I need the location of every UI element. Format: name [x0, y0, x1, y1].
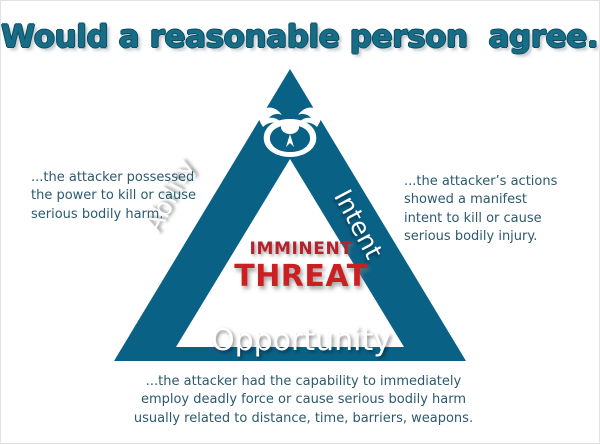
- description-ability-line: serious bodily harm.: [31, 206, 221, 224]
- description-ability: ...the attacker possessed the power to k…: [31, 169, 221, 224]
- description-intent: ...the attacker’s actions showed a manif…: [404, 173, 589, 247]
- center-threat-text: IMMINENT THREAT: [1, 241, 600, 292]
- description-intent-line: intent to kill or cause: [404, 210, 589, 228]
- description-intent-line: serious bodily injury.: [404, 228, 589, 246]
- imminent-threat-triangle-diagram: Would a reasonable person agree...? Abil…: [0, 0, 600, 444]
- description-opportunity-line: ...the attacker had the capability to im…: [106, 373, 501, 391]
- description-opportunity: ...the attacker had the capability to im…: [106, 373, 501, 428]
- threat-label: THREAT: [1, 262, 600, 292]
- description-opportunity-line: employ deadly force or cause serious bod…: [106, 391, 501, 409]
- description-intent-line: showed a manifest: [404, 191, 589, 209]
- description-intent-line: ...the attacker’s actions: [404, 173, 589, 191]
- triangle-edge-label-opportunity: Opportunity: [1, 323, 600, 358]
- description-opportunity-line: usually related to distance, time, barri…: [106, 410, 501, 428]
- description-ability-line: ...the attacker possessed: [31, 169, 221, 187]
- page-title: Would a reasonable person agree...?: [1, 19, 600, 55]
- description-ability-line: the power to kill or cause: [31, 187, 221, 205]
